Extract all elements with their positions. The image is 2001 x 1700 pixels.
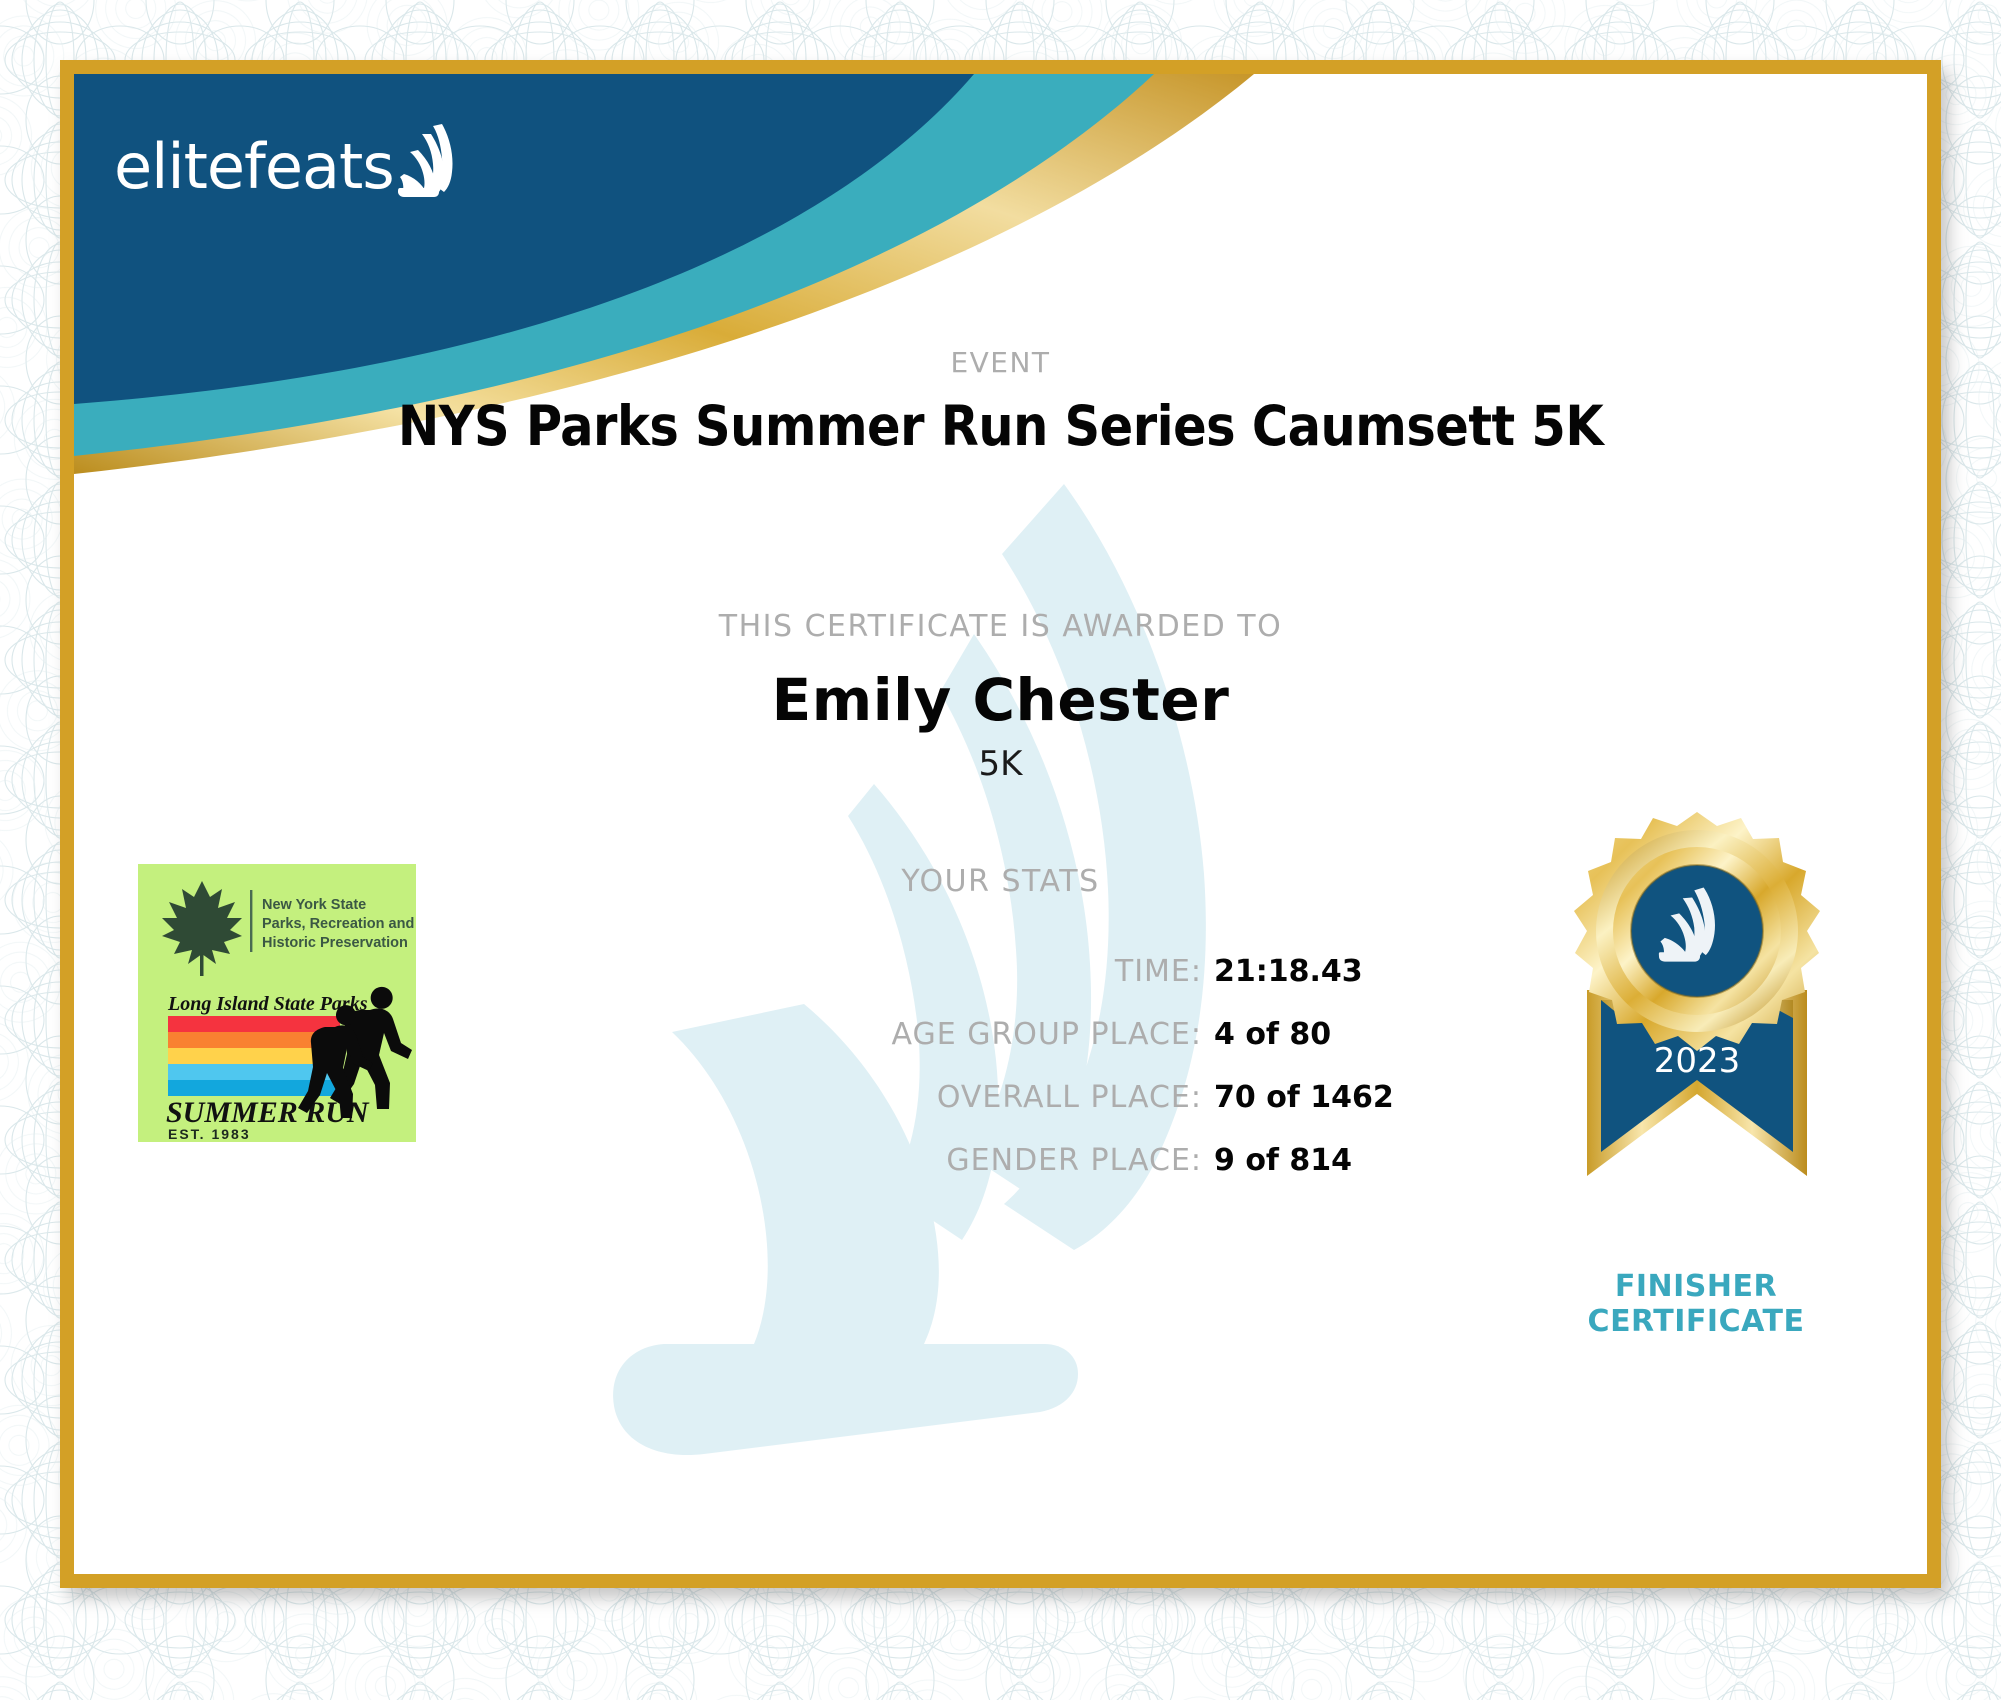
stat-value: 4 of 80 — [1214, 1017, 1404, 1052]
stat-row-gender-place: GENDER PLACE: 9 of 814 — [74, 1143, 1404, 1178]
medal-caption-line-1: FINISHER — [1511, 1269, 1881, 1304]
stat-key: GENDER PLACE: — [946, 1143, 1202, 1178]
stat-key: TIME: — [1115, 954, 1202, 989]
certificate-body: EVENT NYS Parks Summer Run Series Caumse… — [74, 74, 1927, 1574]
event-name: NYS Parks Summer Run Series Caumsett 5K — [74, 394, 1927, 458]
established-text: EST. 1983 — [168, 1126, 251, 1142]
stat-value: 21:18.43 — [1214, 954, 1404, 989]
medal-caption-line-2: CERTIFICATE — [1511, 1304, 1881, 1339]
stat-key: AGE GROUP PLACE: — [891, 1017, 1202, 1052]
agency-line-3: Historic Preservation — [262, 935, 408, 951]
recipient-name: Emily Chester — [74, 666, 1927, 734]
stat-value: 70 of 1462 — [1214, 1080, 1404, 1115]
agency-line-2: Parks, Recreation and — [262, 916, 414, 932]
certificate-paper: elitefeats EVENT NYS Parks Summer Run Se… — [74, 74, 1927, 1574]
stat-key: OVERALL PLACE: — [937, 1080, 1202, 1115]
certificate-frame: elitefeats EVENT NYS Parks Summer Run Se… — [60, 60, 1941, 1588]
stat-value: 9 of 814 — [1214, 1143, 1404, 1178]
sponsor-logo: New York State Parks, Recreation and His… — [138, 864, 416, 1142]
agency-line-1: New York State — [262, 897, 366, 913]
finisher-medal-ribbon: 2023 — [1547, 804, 1847, 1284]
medal-caption: FINISHER CERTIFICATE — [1511, 1269, 1881, 1340]
certificate-page: elitefeats EVENT NYS Parks Summer Run Se… — [0, 0, 2001, 1700]
event-distance: 5K — [74, 744, 1927, 784]
event-label: EVENT — [74, 346, 1927, 379]
awarded-to-label: THIS CERTIFICATE IS AWARDED TO — [74, 609, 1927, 644]
